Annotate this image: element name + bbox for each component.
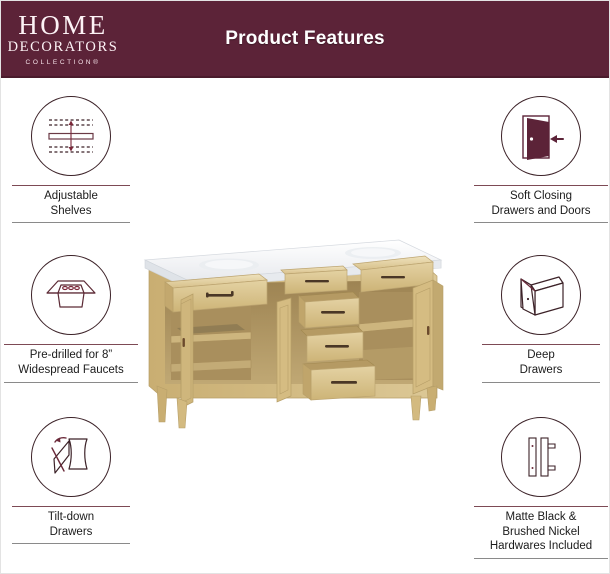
- brand-logo-line1: HOME: [18, 13, 108, 39]
- feature-soft-closing: Soft Closing Drawers and Doors: [471, 96, 610, 223]
- label-line-1: Tilt-down: [12, 510, 130, 525]
- label-line-1: Deep: [482, 348, 600, 363]
- label-line-1: Matte Black &: [474, 510, 608, 525]
- product-image-area: [141, 78, 471, 573]
- feature-adjustable-shelves: Adjustable Shelves: [1, 96, 141, 223]
- soft-closing-door-icon: [501, 96, 581, 176]
- deep-drawer-icon: [501, 255, 581, 335]
- label-line-1: Pre-drilled for 8”: [4, 348, 138, 363]
- feature-tilt-down-drawers: Tilt-down Drawers: [1, 417, 141, 544]
- feature-label-predrilled-faucets: Pre-drilled for 8” Widespread Faucets: [4, 344, 138, 382]
- feature-label-deep-drawers: Deep Drawers: [482, 344, 600, 382]
- feature-label-hardware-included: Matte Black & Brushed Nickel Hardwares I…: [474, 506, 608, 559]
- brand-logo-line3: COLLECTION®: [26, 59, 101, 66]
- brand-logo: HOME DECORATORS COLLECTION®: [1, 0, 121, 77]
- label-line-1: Adjustable: [12, 189, 130, 204]
- feature-hardware-included: Matte Black & Brushed Nickel Hardwares I…: [471, 417, 610, 559]
- adjustable-shelves-icon: [31, 96, 111, 176]
- page-title: Product Features: [121, 28, 609, 50]
- right-feature-column: Soft Closing Drawers and Doors: [471, 78, 610, 573]
- feature-deep-drawers: Deep Drawers: [471, 255, 610, 382]
- features-content: Adjustable Shelves: [1, 78, 609, 573]
- product-features-infographic: HOME DECORATORS COLLECTION® Product Feat…: [0, 0, 610, 574]
- brand-logo-line2: DECORATORS: [8, 38, 119, 56]
- bar-pull-hardware-icon: [501, 417, 581, 497]
- page-header: HOME DECORATORS COLLECTION® Product Feat…: [1, 1, 609, 78]
- label-line-2: Drawers and Doors: [474, 204, 608, 219]
- label-line-2: Drawers: [12, 525, 130, 540]
- feature-predrilled-faucets: Pre-drilled for 8” Widespread Faucets: [1, 255, 141, 382]
- tilt-down-drawer-icon: [31, 417, 111, 497]
- label-line-2: Shelves: [12, 204, 130, 219]
- label-line-2: Brushed Nickel: [474, 525, 608, 540]
- feature-label-soft-closing: Soft Closing Drawers and Doors: [474, 185, 608, 223]
- label-line-2: Widespread Faucets: [4, 363, 138, 378]
- feature-label-adjustable-shelves: Adjustable Shelves: [12, 185, 130, 223]
- left-feature-column: Adjustable Shelves: [1, 78, 141, 573]
- label-line-3: Hardwares Included: [474, 539, 608, 554]
- double-sink-bathroom-vanity: [141, 218, 471, 433]
- predrilled-faucet-holes-icon: [31, 255, 111, 335]
- label-line-1: Soft Closing: [474, 189, 608, 204]
- feature-label-tilt-down-drawers: Tilt-down Drawers: [12, 506, 130, 544]
- label-line-2: Drawers: [482, 363, 600, 378]
